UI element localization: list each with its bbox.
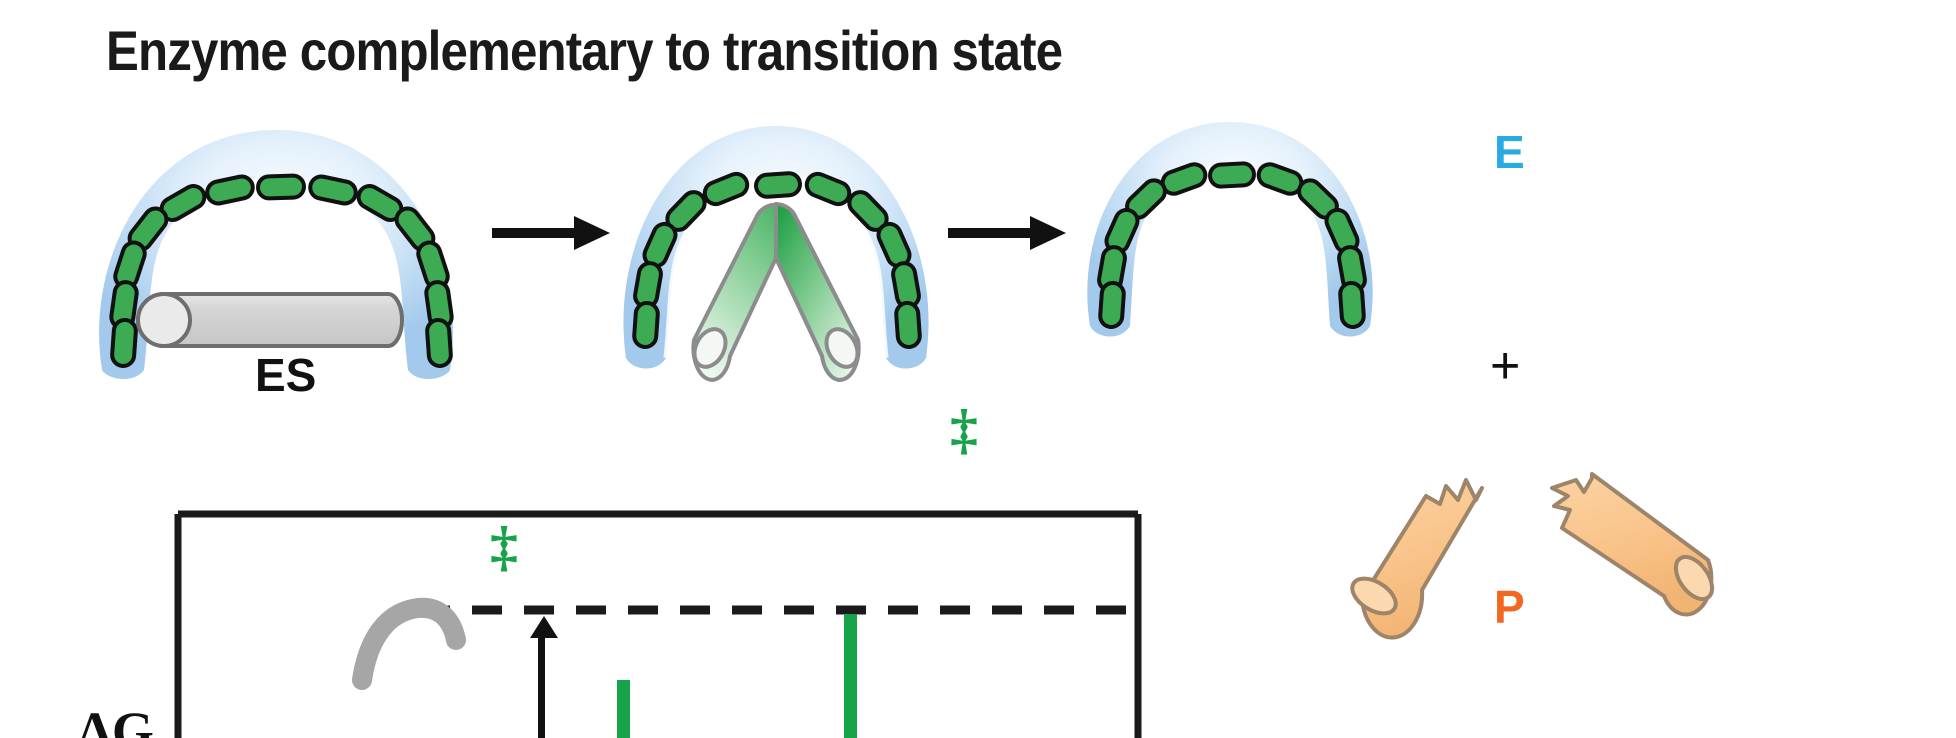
free-energy-diagram	[100, 500, 1200, 738]
transition-state-substrate	[688, 204, 864, 380]
delta-g-text: ΔG	[78, 700, 154, 738]
arrow-ts-to-ep	[948, 208, 1068, 258]
page-title: Enzyme complementary to transition state	[106, 18, 1062, 83]
figure-canvas: Enzyme complementary to transition state	[0, 0, 1956, 738]
enzyme-label: E	[1494, 125, 1525, 179]
arrow-es-to-ts	[492, 208, 612, 258]
product-fragment-left	[1346, 480, 1482, 638]
plus-sign: +	[1490, 336, 1520, 396]
chart-frame	[178, 514, 1138, 738]
energy-gap-arrow	[530, 616, 558, 738]
reaction-curve	[362, 608, 456, 680]
es-label: ES	[255, 348, 316, 402]
chart-dagger-icon: ‡	[490, 515, 518, 579]
substrate-rod	[138, 294, 402, 346]
panel-free-enzyme	[1072, 108, 1392, 348]
product-fragments	[1330, 400, 1730, 620]
transition-state-markers	[617, 614, 857, 738]
product-label: P	[1494, 580, 1525, 634]
product-fragment-right	[1552, 474, 1719, 615]
transition-state-dagger-icon: ‡	[950, 398, 978, 462]
panel-transition-state	[608, 108, 948, 398]
panel-es-complex	[80, 108, 500, 388]
chart-y-axis-label: ΔG	[78, 700, 154, 738]
